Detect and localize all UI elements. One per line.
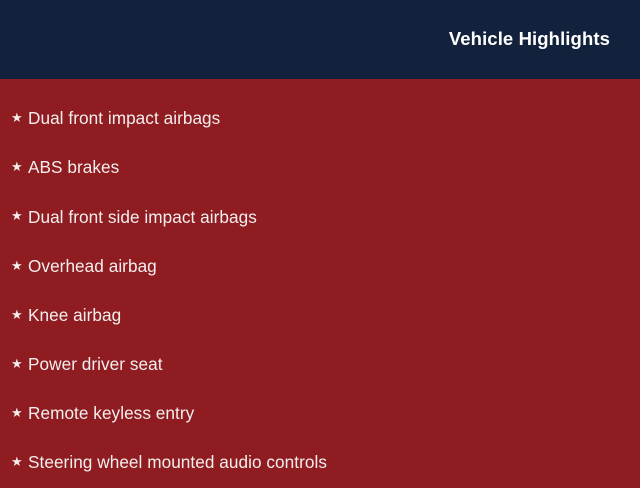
list-item: ★ Overhead airbag [0, 242, 640, 291]
star-icon: ★ [11, 357, 28, 370]
list-item: ★ Steering wheel mounted audio controls [0, 438, 640, 487]
star-icon: ★ [11, 455, 28, 468]
list-item: ★ Dual front side impact airbags [0, 192, 640, 241]
list-item-label: Remote keyless entry [28, 404, 194, 423]
list-item: ★ Dual front impact airbags [0, 94, 640, 143]
panel-title: Vehicle Highlights [449, 30, 610, 49]
star-icon: ★ [11, 111, 28, 124]
highlights-body: ★ Dual front impact airbags ★ ABS brakes… [0, 79, 640, 488]
list-item-label: ABS brakes [28, 158, 119, 177]
list-item-label: Knee airbag [28, 306, 121, 325]
star-icon: ★ [11, 308, 28, 321]
list-item-label: Steering wheel mounted audio controls [28, 453, 327, 472]
star-icon: ★ [11, 160, 28, 173]
star-icon: ★ [11, 259, 28, 272]
list-item: ★ ABS brakes [0, 143, 640, 192]
vehicle-highlights-panel: Vehicle Highlights ★ Dual front impact a… [0, 0, 640, 480]
highlights-list: ★ Dual front impact airbags ★ ABS brakes… [0, 94, 640, 488]
list-item-label: Dual front side impact airbags [28, 208, 257, 227]
list-item: ★ Power driver seat [0, 340, 640, 389]
list-item-label: Dual front impact airbags [28, 109, 220, 128]
list-item-label: Overhead airbag [28, 257, 157, 276]
list-item-label: Power driver seat [28, 355, 163, 374]
star-icon: ★ [11, 209, 28, 222]
star-icon: ★ [11, 406, 28, 419]
panel-header: Vehicle Highlights [0, 0, 640, 79]
list-item: ★ Remote keyless entry [0, 389, 640, 438]
list-item: ★ Knee airbag [0, 291, 640, 340]
